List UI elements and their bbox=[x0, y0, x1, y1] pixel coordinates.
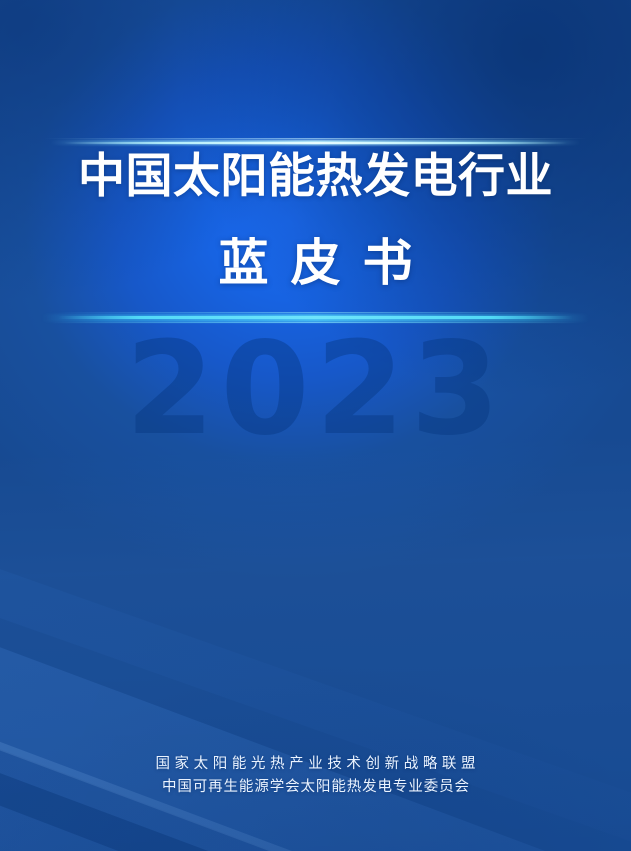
book-subtitle: 蓝皮书 bbox=[0, 233, 631, 293]
title-block: 中国太阳能热发电行业 bbox=[0, 150, 631, 205]
book-title: 中国太阳能热发电行业 bbox=[0, 150, 631, 205]
subtitle-block: 蓝皮书 bbox=[0, 233, 631, 293]
publisher-line-1: 国家太阳能光热产业技术创新战略联盟 bbox=[0, 753, 631, 776]
background-wash bbox=[0, 0, 631, 851]
book-cover: 2023 中国太阳能热发电行业 蓝皮书 国家太阳能光热产业技术创新战略联盟 中国… bbox=[0, 0, 631, 851]
publisher-block: 国家太阳能光热产业技术创新战略联盟 中国可再生能源学会太阳能热发电专业委员会 bbox=[0, 753, 631, 799]
publisher-line-2: 中国可再生能源学会太阳能热发电专业委员会 bbox=[0, 776, 631, 799]
